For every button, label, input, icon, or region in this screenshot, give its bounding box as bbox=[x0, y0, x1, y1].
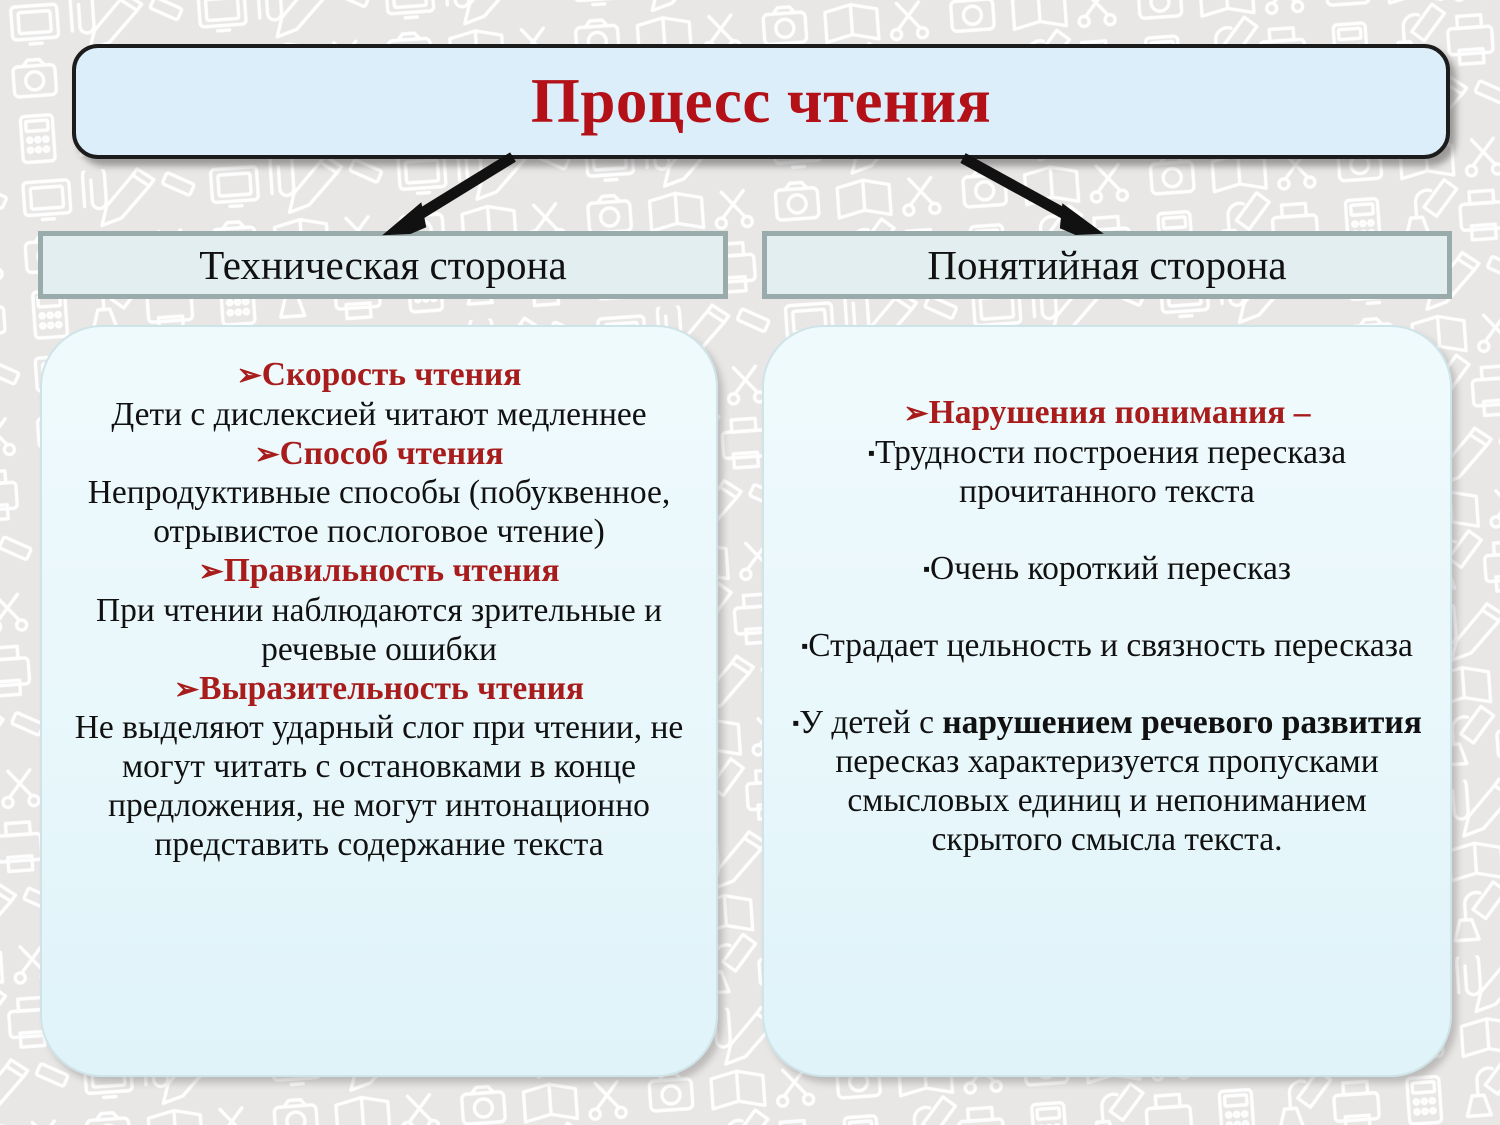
list-item: Не выделяют ударный слог при чтении, не … bbox=[60, 708, 698, 864]
list-item-strong: нарушением речевого развития bbox=[942, 704, 1421, 741]
list-item: Дети с дислексией читают медленнее bbox=[60, 395, 698, 434]
panel-technical-content: ➢Скорость чтения Дети с дислексией читаю… bbox=[42, 327, 716, 874]
heading-label: Правильность чтения bbox=[224, 552, 560, 589]
list-item: ▪Трудности построения пересказа прочитан… bbox=[782, 433, 1432, 511]
list-item-label: Очень короткий пересказ bbox=[930, 550, 1291, 587]
heading-label: Способ чтения bbox=[280, 435, 504, 472]
heading-label: Выразительность чтения bbox=[199, 670, 584, 707]
square-bullet-icon: ▪ bbox=[923, 558, 930, 580]
list-item-post: пересказ характеризуется пропусками смыс… bbox=[835, 743, 1378, 858]
arrow-bullet-icon: ➢ bbox=[254, 438, 279, 471]
list-item: ➢Правильность чтения bbox=[60, 551, 698, 591]
arrow-bullet-icon: ➢ bbox=[174, 673, 199, 706]
list-item: Непродуктивные способы (побуквенное, отр… bbox=[60, 473, 698, 551]
list-item: ▪Очень короткий пересказ bbox=[782, 549, 1432, 588]
column-header-technical-label: Техническая сторона bbox=[199, 245, 566, 286]
panel-conceptual-side: ➢Нарушения понимания – ▪Трудности постро… bbox=[762, 325, 1452, 1077]
column-header-conceptual-label: Понятийная сторона bbox=[927, 245, 1286, 286]
arrow-bullet-icon: ➢ bbox=[199, 555, 224, 588]
page-title: Процесс чтения bbox=[531, 70, 991, 133]
list-item: ▪Страдает цельность и связность пересказ… bbox=[782, 626, 1432, 665]
panel-conceptual-content: ➢Нарушения понимания – ▪Трудности постро… bbox=[764, 327, 1450, 869]
arrow-bullet-icon: ➢ bbox=[904, 397, 929, 430]
column-header-technical: Техническая сторона bbox=[38, 231, 728, 299]
list-item-pre: У детей с bbox=[799, 704, 942, 741]
arrow-bullet-icon: ➢ bbox=[237, 359, 262, 392]
list-item: ➢Нарушения понимания – bbox=[782, 393, 1432, 433]
heading-label: Скорость чтения bbox=[262, 356, 522, 393]
list-item: ➢Выразительность чтения bbox=[60, 669, 698, 709]
column-header-conceptual: Понятийная сторона bbox=[762, 231, 1452, 299]
slide-title-box: Процесс чтения bbox=[72, 44, 1450, 159]
list-item: При чтении наблюдаются зрительные и рече… bbox=[60, 591, 698, 669]
heading-label: Нарушения понимания – bbox=[929, 394, 1311, 431]
panel-technical-side: ➢Скорость чтения Дети с дислексией читаю… bbox=[40, 325, 718, 1077]
square-bullet-icon: ▪ bbox=[868, 442, 875, 464]
list-item: ▪У детей с нарушением речевого развития … bbox=[782, 703, 1432, 859]
list-item-label: Страдает цельность и связность пересказа bbox=[808, 627, 1413, 664]
list-item: ➢Способ чтения bbox=[60, 434, 698, 474]
list-item: ➢Скорость чтения bbox=[60, 355, 698, 395]
list-item-label: Трудности построения пересказа прочитанн… bbox=[875, 434, 1346, 510]
